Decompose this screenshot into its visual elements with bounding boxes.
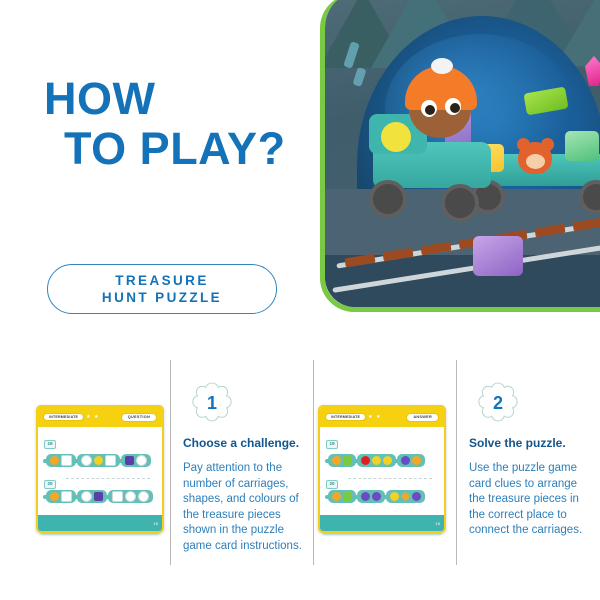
difficulty-stars-icon: ★ ★	[368, 414, 381, 420]
carriage-segment[interactable]	[357, 490, 385, 503]
treasure-piece-square[interactable]	[125, 456, 134, 465]
purple-crystal-icon	[473, 236, 523, 276]
badge-line-1: TREASURE	[115, 272, 208, 289]
carriage-segment[interactable]	[108, 490, 153, 503]
step-number: 1	[185, 380, 239, 426]
page-title: HOW TO PLAY?	[44, 74, 286, 174]
row-dashed-separator	[66, 478, 150, 479]
treasure-piece-square[interactable]	[343, 492, 352, 501]
difficulty-label: INTERMEDIATE	[325, 413, 366, 421]
treasure-piece-square[interactable]	[112, 491, 123, 502]
bear-face	[526, 154, 545, 169]
treasure-piece-diamond[interactable]	[401, 492, 411, 502]
card-type-label: QUESTION	[121, 413, 157, 422]
helmet-lamp-icon	[431, 58, 453, 74]
card-header: INTERMEDIATE ★ ★ QUESTION	[38, 407, 162, 427]
puzzle-row-number: 19	[44, 440, 56, 449]
character-pupil	[450, 103, 460, 113]
treasure-piece-circle[interactable]	[390, 492, 399, 501]
step-number-flower-icon: 2	[471, 380, 525, 426]
bear-ear	[541, 138, 554, 151]
treasure-piece-square[interactable]	[94, 492, 103, 501]
puzzle-answer-card[interactable]: INTERMEDIATE ★ ★ ANSWER 19 20 19	[318, 405, 446, 533]
badge-line-2: HUNT PUZZLE	[102, 289, 222, 306]
treasure-piece-circle[interactable]	[332, 456, 341, 465]
puzzle-track[interactable]	[328, 454, 438, 467]
title-line-1: HOW	[44, 73, 155, 124]
treasure-piece-circle[interactable]	[372, 456, 381, 465]
treasure-piece-circle[interactable]	[401, 456, 410, 465]
treasure-piece-circle[interactable]	[361, 492, 370, 501]
step-number: 2	[471, 380, 525, 426]
treasure-piece-circle[interactable]	[412, 456, 421, 465]
treasure-piece-circle[interactable]	[81, 491, 92, 502]
puzzle-question-card[interactable]: INTERMEDIATE ★ ★ QUESTION 19 20 19	[36, 405, 164, 533]
carriage-segment[interactable]	[77, 490, 107, 503]
title-line-2: TO PLAY?	[64, 124, 286, 174]
card-body: 19 20	[38, 427, 162, 517]
puzzle-track[interactable]	[328, 490, 438, 503]
treasure-piece-circle[interactable]	[50, 456, 59, 465]
bear-ear	[517, 138, 530, 151]
character-pupil	[425, 105, 435, 115]
carriage-segment[interactable]	[46, 454, 76, 467]
carriage-segment[interactable]	[386, 490, 425, 503]
treasure-piece-circle[interactable]	[372, 492, 381, 501]
step-title: Solve the puzzle.	[469, 436, 595, 450]
hero-product-photo	[320, 0, 600, 312]
puzzle-row-number: 20	[44, 480, 56, 489]
column-divider	[456, 360, 457, 565]
carriage-segment[interactable]	[357, 454, 396, 467]
puzzle-row-number: 20	[326, 480, 338, 489]
treasure-piece-square[interactable]	[61, 455, 72, 466]
treasure-piece-circle[interactable]	[136, 455, 147, 466]
product-name-badge: TREASURE HUNT PUZZLE	[47, 264, 277, 314]
treasure-piece-square[interactable]	[105, 455, 116, 466]
treasure-piece-circle[interactable]	[138, 491, 149, 502]
card-body: 19 20	[320, 427, 444, 517]
step-2-block: 2 Solve the puzzle. Use the puzzle game …	[469, 380, 595, 539]
locomotive-wheel	[369, 180, 407, 218]
treasure-piece-square[interactable]	[343, 456, 352, 465]
column-divider	[170, 360, 171, 565]
column-divider	[313, 360, 314, 565]
treasure-piece-circle[interactable]	[412, 492, 421, 501]
green-gem-cargo-icon	[565, 131, 599, 161]
row-dashed-separator	[348, 478, 432, 479]
treasure-piece-circle[interactable]	[383, 456, 392, 465]
page-root: HOW TO PLAY? TREASURE HUNT PUZZLE 1 Choo…	[0, 0, 600, 600]
hero-illustration	[325, 0, 600, 307]
difficulty-label: INTERMEDIATE	[43, 413, 84, 421]
step-1-block: 1 Choose a challenge. Pay attention to t…	[183, 380, 309, 554]
treasure-piece-circle[interactable]	[125, 491, 136, 502]
step-number-flower-icon: 1	[185, 380, 239, 426]
treasure-piece-circle[interactable]	[94, 456, 103, 465]
carriage-segment[interactable]	[328, 490, 356, 503]
treasure-piece-circle[interactable]	[361, 456, 370, 465]
difficulty-stars-icon: ★ ★	[86, 414, 99, 420]
treasure-piece-circle[interactable]	[81, 455, 92, 466]
step-body: Use the puzzle game card clues to arrang…	[469, 461, 595, 539]
puzzle-track[interactable]	[46, 490, 156, 503]
locomotive-headlight-icon	[381, 122, 411, 152]
card-type-label: ANSWER	[406, 413, 439, 422]
step-title: Choose a challenge.	[183, 436, 309, 450]
card-footer: 19	[38, 515, 162, 531]
treasure-piece-circle[interactable]	[50, 492, 59, 501]
locomotive-wheel	[441, 184, 479, 222]
step-body: Pay attention to the number of carriages…	[183, 461, 309, 554]
card-page-number: 19	[154, 521, 158, 526]
treasure-piece-circle[interactable]	[332, 492, 341, 501]
carriage-segment[interactable]	[328, 454, 356, 467]
puzzle-row-number: 19	[326, 440, 338, 449]
card-footer: 19	[320, 515, 444, 531]
carriage-segment[interactable]	[46, 490, 76, 503]
carriage-segment[interactable]	[397, 454, 425, 467]
card-page-number: 19	[436, 521, 440, 526]
carriage-segment[interactable]	[77, 454, 120, 467]
treasure-piece-square[interactable]	[61, 491, 72, 502]
puzzle-track[interactable]	[46, 454, 156, 467]
card-header: INTERMEDIATE ★ ★ ANSWER	[320, 407, 444, 427]
carriage-segment[interactable]	[121, 454, 151, 467]
